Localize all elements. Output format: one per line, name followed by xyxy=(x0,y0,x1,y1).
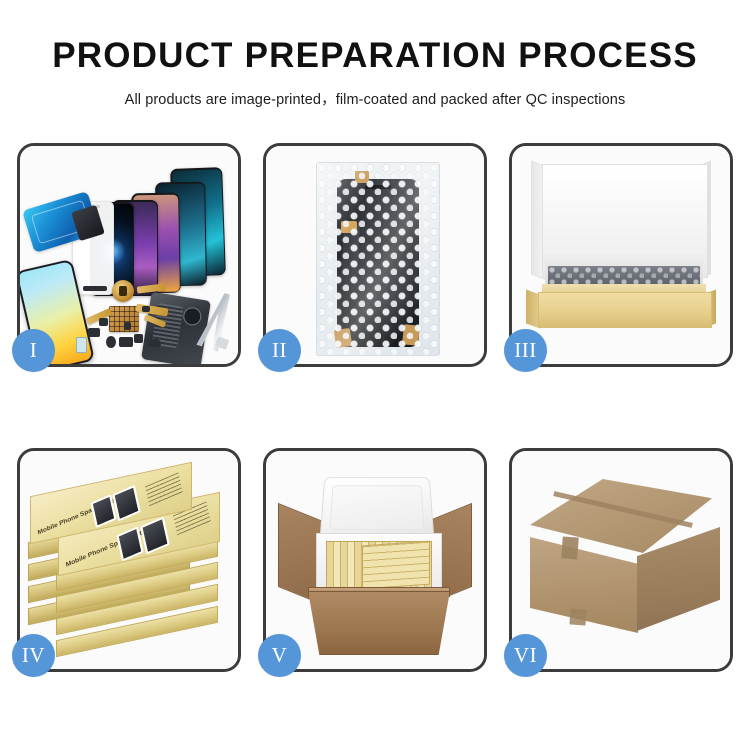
process-panel-grid: I II xyxy=(17,143,733,672)
sealed-carton-scene xyxy=(512,451,730,669)
page-subtitle: All products are image-printed，film-coat… xyxy=(0,88,750,109)
small-part-7 xyxy=(99,318,108,326)
small-part-3 xyxy=(106,336,116,348)
process-panel-4: Mobile Phone Spare Parts Mobile Phone Sp… xyxy=(17,448,241,672)
plastic-sheen xyxy=(317,163,439,355)
panel-3-image xyxy=(512,146,730,364)
page-title: PRODUCT PREPARATION PROCESS xyxy=(0,38,750,75)
foam-lid xyxy=(320,477,435,539)
bubble-wrap-scene xyxy=(266,146,484,364)
box-front-face xyxy=(538,292,712,328)
small-part-9 xyxy=(142,306,150,312)
small-part-10 xyxy=(148,339,161,347)
small-part-4 xyxy=(119,337,133,347)
page-header: PRODUCT PREPARATION PROCESS All products… xyxy=(0,0,750,109)
carton-body xyxy=(308,591,450,655)
phone-back-housing xyxy=(141,292,211,364)
panel-6-image xyxy=(512,451,730,669)
panel-badge-4: IV xyxy=(12,634,55,677)
product-parts-scene xyxy=(20,146,238,364)
small-part-6 xyxy=(76,337,87,353)
stacked-boxes-scene: Mobile Phone Spare Parts Mobile Phone Sp… xyxy=(20,451,238,669)
panel-badge-1: I xyxy=(12,329,55,372)
box-artwork-swatch-2 xyxy=(112,485,141,522)
small-part-1 xyxy=(83,286,107,291)
panel-2-image xyxy=(266,146,484,364)
box-artwork-swatch-4 xyxy=(140,517,170,555)
speaker-module xyxy=(112,280,134,302)
process-panel-1: I xyxy=(17,143,241,367)
open-box-scene xyxy=(512,146,730,364)
small-part-5 xyxy=(134,334,143,343)
process-panel-2: II xyxy=(263,143,487,367)
small-part-2 xyxy=(88,328,100,337)
carton-fold-tab-top xyxy=(561,536,578,559)
panel-4-image: Mobile Phone Spare Parts Mobile Phone Sp… xyxy=(20,451,238,669)
carton-fold-tab-bottom xyxy=(569,608,586,625)
panel-badge-3: III xyxy=(504,329,547,372)
small-part-8 xyxy=(124,322,131,330)
process-panel-5: V xyxy=(263,448,487,672)
process-panel-3: III xyxy=(509,143,733,367)
packed-yellow-boxes-secondary xyxy=(362,541,430,590)
panel-badge-2: II xyxy=(258,329,301,372)
panel-1-image xyxy=(20,146,238,364)
process-panel-6: VI xyxy=(509,448,733,672)
panel-badge-5: V xyxy=(258,634,301,677)
panel-5-image xyxy=(266,451,484,669)
box-spec-text-block-1 xyxy=(145,472,183,507)
carton-packing-scene xyxy=(266,451,484,669)
bubble-wrap-bag xyxy=(316,162,440,356)
panel-badge-6: VI xyxy=(504,634,547,677)
